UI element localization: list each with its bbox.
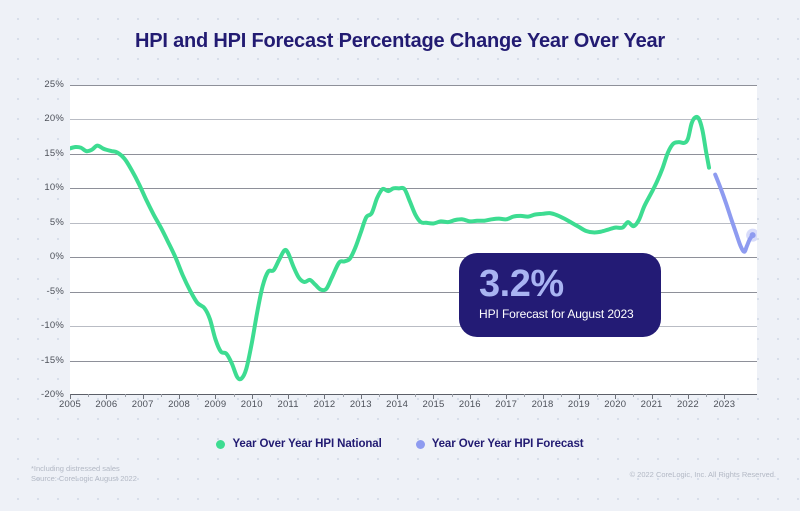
line-forecast (715, 175, 752, 252)
x-tick-label: 2012 (304, 399, 344, 410)
x-tick-label: 2011 (268, 399, 308, 410)
x-tick-label: 2017 (486, 399, 526, 410)
x-tick-label: 2022 (668, 399, 708, 410)
y-tick-label: 0% (18, 251, 64, 262)
x-tick-label: 2014 (377, 399, 417, 410)
x-tick-label: 2021 (632, 399, 672, 410)
y-tick-label: -15% (18, 355, 64, 366)
line-national (70, 117, 709, 379)
footer-note: *Including distressed sales Source: Core… (31, 464, 137, 484)
legend-item-national: Year Over Year HPI National (216, 438, 381, 450)
series-lines (70, 85, 757, 395)
y-tick-label: 5% (18, 217, 64, 228)
x-tick-label: 2006 (86, 399, 126, 410)
x-tick-label: 2015 (413, 399, 453, 410)
x-tick-label: 2023 (704, 399, 744, 410)
chart-legend: Year Over Year HPI National Year Over Ye… (0, 438, 800, 450)
y-tick-label: 25% (18, 79, 64, 90)
legend-label-national: Year Over Year HPI National (232, 438, 381, 450)
copyright-notice: © 2022 CoreLogic, Inc. All Rights Reserv… (630, 470, 776, 479)
x-tick-label: 2016 (450, 399, 490, 410)
forecast-endpoint-marker (750, 232, 756, 238)
footer-note-line2: Source: CoreLogic August 2022 (31, 474, 137, 484)
x-tick-label: 2009 (195, 399, 235, 410)
x-tick-label: 2019 (559, 399, 599, 410)
x-tick-label: 2008 (159, 399, 199, 410)
callout-value: 3.2% (479, 263, 661, 305)
x-tick-label: 2005 (50, 399, 90, 410)
footer-note-line1: *Including distressed sales (31, 464, 137, 474)
y-tick-label: -10% (18, 320, 64, 331)
page-title: HPI and HPI Forecast Percentage Change Y… (0, 30, 800, 53)
x-tick-label: 2007 (123, 399, 163, 410)
y-tick-label: 10% (18, 182, 64, 193)
y-tick-label: 20% (18, 113, 64, 124)
legend-item-forecast: Year Over Year HPI Forecast (416, 438, 584, 450)
x-tick-label: 2010 (232, 399, 272, 410)
x-tick-label: 2013 (341, 399, 381, 410)
x-tick-label: 2020 (595, 399, 635, 410)
forecast-callout: 3.2% HPI Forecast for August 2023 (459, 253, 661, 337)
legend-label-forecast: Year Over Year HPI Forecast (432, 438, 584, 450)
legend-swatch-periwinkle-icon (416, 440, 425, 449)
chart-page: HPI and HPI Forecast Percentage Change Y… (0, 0, 800, 511)
y-tick-label: -5% (18, 286, 64, 297)
x-tick-label: 2018 (523, 399, 563, 410)
callout-caption: HPI Forecast for August 2023 (479, 307, 661, 321)
y-tick-label: 15% (18, 148, 64, 159)
legend-swatch-green-icon (216, 440, 225, 449)
